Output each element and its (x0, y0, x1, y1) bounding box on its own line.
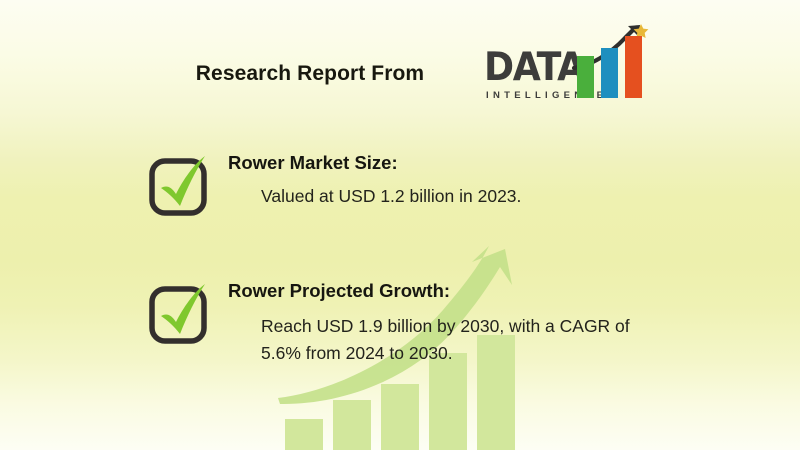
slide-canvas: Research Report From DATA INTELLIGENCE (0, 0, 800, 450)
bullet-point-2-text: Rower Projected Growth: Reach USD 1.9 bi… (228, 280, 748, 367)
bullet-point-1-body: Valued at USD 1.2 billion in 2023. (261, 183, 661, 210)
chart-bar-2 (333, 400, 371, 450)
chart-bar-4 (429, 353, 467, 450)
logo-bar-chart-icon (570, 24, 656, 98)
chart-bar-3 (381, 384, 419, 450)
check-box-icon (146, 152, 220, 220)
logo-bar-green (577, 56, 594, 98)
header: Research Report From DATA INTELLIGENCE (0, 62, 800, 122)
bullet-point-1-heading: Rower Market Size: (228, 152, 748, 174)
bullet-point-1-text: Rower Market Size: Valued at USD 1.2 bil… (228, 152, 748, 210)
bullet-point-2-body: Reach USD 1.9 billion by 2030, with a CA… (261, 313, 661, 367)
check-box-icon (146, 280, 220, 348)
chart-bar-1 (285, 419, 323, 450)
logo-bar-blue (601, 48, 618, 98)
data-intelligence-logo: DATA INTELLIGENCE (484, 26, 654, 122)
page-title: Research Report From (150, 62, 470, 86)
logo-wordmark: DATA (484, 48, 584, 87)
bullet-point-2-heading: Rower Projected Growth: (228, 280, 748, 302)
logo-bar-orange (625, 36, 642, 98)
